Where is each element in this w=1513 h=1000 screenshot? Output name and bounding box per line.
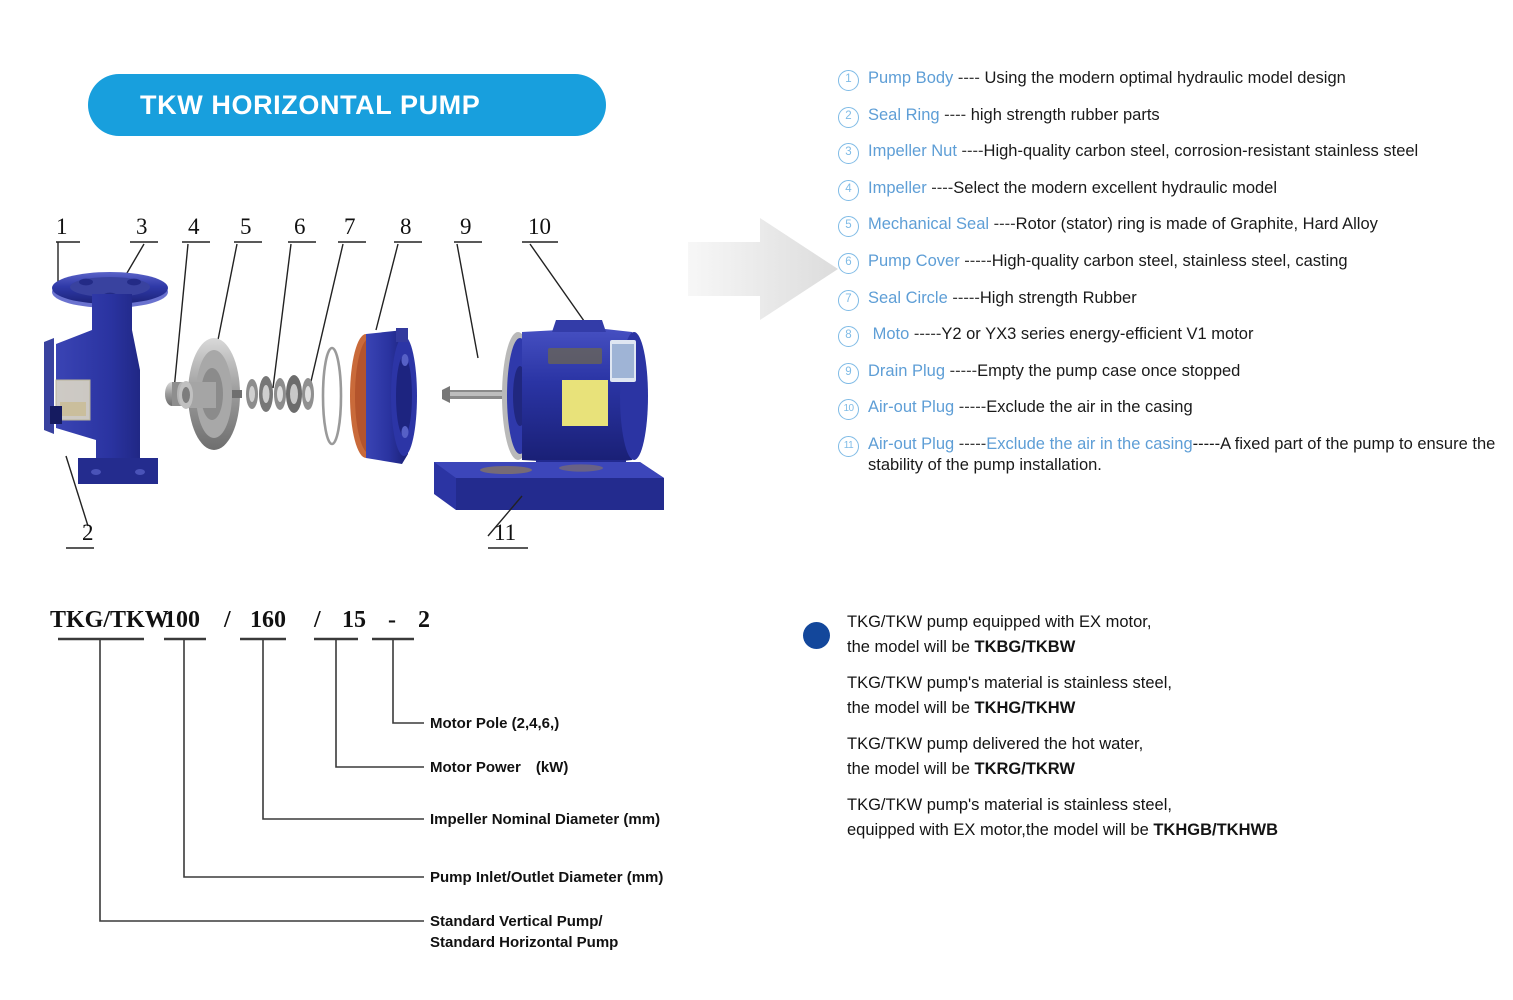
svg-text:8: 8 [400,214,412,239]
callout-number-9: 9 [454,214,482,358]
legend-desc: Empty the pump case once stopped [977,362,1240,380]
legend-dashes: ---- [940,106,971,124]
legend-item: 8 Moto -----Y2 or YX3 series energy-effi… [838,324,1498,347]
legend-dashes: ---- [989,215,1016,233]
legend-dashes: ---- [953,69,984,87]
callout-number-8: 8 [376,214,422,330]
note-line: the model will be TKBG/TKBW [847,637,1420,658]
svg-text:9: 9 [460,214,472,239]
note-line: TKG/TKW pump's material is stainless ste… [847,673,1420,694]
note-line: equipped with EX motor,the model will be… [847,820,1420,841]
legend-label: Mechanical Seal [868,215,989,233]
circled-number-icon: 9 [838,363,859,384]
legend-item: 4 Impeller ----Select the modern excelle… [838,178,1498,201]
legend-dashes: ----- [948,289,980,307]
legend-label: Moto [873,325,910,343]
pump-cover-part [350,328,417,464]
legend-dashes: ---- [957,142,984,160]
exploded-pump-diagram: 1 3 4 5 6 7 8 9 10 [36,210,696,570]
legend-dashes: ---- [927,179,954,197]
legend-label: Pump Cover [868,252,960,270]
note-model: TKBG/TKBW [974,638,1075,656]
legend-desc: Exclude the air in the casing [986,398,1192,416]
legend-label: Air-out Plug [868,435,954,453]
svg-text:3: 3 [136,214,148,239]
svg-text:11: 11 [494,520,516,545]
note-prefix: the model will be [847,638,974,656]
legend-item: 11 Air-out Plug -----Exclude the air in … [838,434,1498,476]
legend-label: Seal Ring [868,106,940,124]
impeller-part [179,338,240,450]
note-prefix: the model will be [847,699,974,717]
circled-number-icon: 8 [838,326,859,347]
legend-desc: Select the modern excellent hydraulic mo… [953,179,1277,197]
note-prefix: equipped with EX motor,the model will be [847,821,1153,839]
circled-number-icon: 3 [838,143,859,164]
legend-item: 1 Pump Body ---- Using the modern optima… [838,68,1498,91]
model-variants-notes: TKG/TKW pump equipped with EX motor, the… [800,612,1420,856]
leaf-label-inlet-outlet-diameter: Pump Inlet/Outlet Diameter (mm) [430,869,663,886]
legend-dashes: ----- [954,435,986,453]
callout-number-10: 10 [522,214,596,338]
circled-number-icon: 1 [838,70,859,91]
legend-item: 7 Seal Circle -----High strength Rubber [838,288,1498,311]
legend-item: 3 Impeller Nut ----High-quality carbon s… [838,141,1498,164]
legend-dashes: ----- [909,325,941,343]
note-model: TKHGB/TKHWB [1153,821,1278,839]
code-segment-3: 15 [342,607,366,633]
code-segment-4: 2 [418,607,430,633]
legend-desc: High-quality carbon steel, corrosion-res… [984,142,1419,160]
legend-item: 6 Pump Cover -----High-quality carbon st… [838,251,1498,274]
page-title: TKW HORIZONTAL PUMP [140,90,480,121]
legend-item: 2 Seal Ring ---- high strength rubber pa… [838,105,1498,128]
legend-desc: Y2 or YX3 series energy-efficient V1 mot… [941,325,1253,343]
svg-text:6: 6 [294,214,306,239]
legend-label: Seal Circle [868,289,948,307]
note-line: the model will be TKHG/TKHW [847,698,1420,719]
legend-label: Impeller [868,179,927,197]
code-segment-1: 100 [164,607,200,633]
legend-dashes: ----- [960,252,992,270]
svg-text:7: 7 [344,214,356,239]
svg-text:2: 2 [82,520,94,545]
code-separator-2: - [388,607,396,633]
leaf-label-standard-pump-line1: Standard Vertical Pump/ [430,913,603,930]
base-plate-part [434,462,664,510]
page-title-banner: TKW HORIZONTAL PUMP [88,74,606,136]
leaf-label-standard-pump-line2: Standard Horizontal Pump [430,934,618,951]
code-segment-2: 160 [250,607,286,633]
svg-text:4: 4 [188,214,200,239]
legend-dashes: ----- [945,362,977,380]
legend-desc: High strength Rubber [980,289,1137,307]
legend-item: 9 Drain Plug -----Empty the pump case on… [838,361,1498,384]
flow-arrow-icon [688,212,843,327]
code-segment-0: TKG/TKW [50,607,169,633]
legend-item: 10 Air-out Plug -----Exclude the air in … [838,397,1498,420]
legend-dashes: ----- [954,398,986,416]
legend-desc: Rotor (stator) ring is made of Graphite,… [1016,215,1378,233]
legend-desc: high strength rubber parts [971,106,1160,124]
legend-label: Drain Plug [868,362,945,380]
parts-legend-list: 1 Pump Body ---- Using the modern optima… [838,68,1498,490]
code-separator-1: / [313,607,321,633]
legend-desc: High-quality carbon steel, stainless ste… [992,252,1348,270]
circled-number-icon: 7 [838,290,859,311]
leaf-label-motor-pole: Motor Pole (2,4,6,) [430,715,559,732]
pump-body-part [44,272,168,484]
callout-number-5: 5 [216,214,262,350]
legend-desc-blue: Exclude the air in the casing [986,435,1192,453]
bullet-dot-icon [803,622,830,649]
circled-number-icon: 6 [838,253,859,274]
note-prefix: the model will be [847,760,974,778]
circled-number-icon: 10 [838,399,859,420]
note-line: the model will be TKRG/TKRW [847,759,1420,780]
note-line: TKG/TKW pump delivered the hot water, [847,734,1420,755]
legend-label: Impeller Nut [868,142,957,160]
leaf-label-motor-power: Motor Power (kW) [430,759,568,776]
note-model: TKHG/TKHW [974,699,1075,717]
model-code-breakdown: TKG/TKW 100 / 160 / 15 - 2 Motor Pole (2… [36,595,736,965]
svg-text:1: 1 [56,214,68,239]
legend-label: Pump Body [868,69,953,87]
note-line: TKG/TKW pump equipped with EX motor, [847,612,1420,633]
circled-number-icon: 11 [838,436,859,457]
circled-number-icon: 4 [838,180,859,201]
legend-label: Air-out Plug [868,398,954,416]
mechanical-seal-stack [232,375,314,413]
callout-number-6: 6 [273,214,316,388]
svg-text:10: 10 [528,214,551,239]
code-separator-0: / [223,607,231,633]
circled-number-icon: 5 [838,216,859,237]
legend-item: 5 Mechanical Seal ----Rotor (stator) rin… [838,214,1498,237]
seal-circle-part [323,348,341,444]
motor-part [442,320,648,476]
svg-text:5: 5 [240,214,252,239]
legend-desc: Using the modern optimal hydraulic model… [984,69,1345,87]
note-line: TKG/TKW pump's material is stainless ste… [847,795,1420,816]
leaf-label-impeller-diameter: Impeller Nominal Diameter (mm) [430,811,660,828]
circled-number-icon: 2 [838,107,859,128]
note-model: TKRG/TKRW [974,760,1075,778]
